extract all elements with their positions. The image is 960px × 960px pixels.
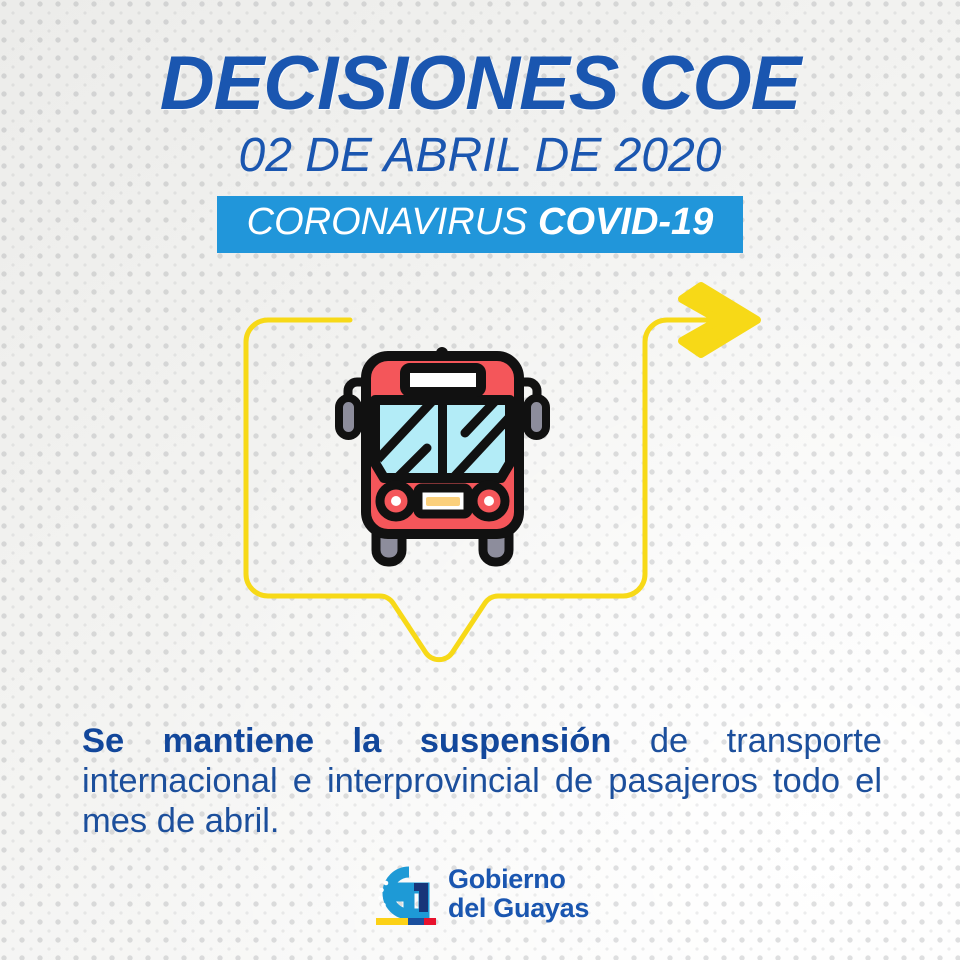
logo-line-1: Gobierno [448,865,589,894]
banner-label-coronavirus: CORONAVIRUS [247,201,528,243]
logo-navy-mark [414,883,428,912]
body-text: Se mantiene la suspensión de transporte … [82,721,882,841]
body-text-bold: Se mantiene la suspensión [82,722,611,760]
logo-flag-bar [376,918,436,925]
licence-plate-strip [426,497,460,506]
mirror-pad-right [527,398,546,436]
poster-canvas: DECISIONES COE 02 DE ABRIL DE 2020 CORON… [0,0,960,960]
logo-g-letter [388,872,424,914]
headlight-left-glint [391,496,401,506]
bus-icon [335,338,550,568]
flag-red [424,918,436,925]
header: DECISIONES COE 02 DE ABRIL DE 2020 CORON… [0,0,960,253]
logo: Gobierno del Guayas [372,862,589,928]
flag-blue [408,918,424,925]
banner-label-covid19: COVID-19 [538,201,713,243]
logo-text: Gobierno del Guayas [448,862,589,923]
bus-windshield [365,393,531,488]
gobierno-del-guayas-logo-icon [372,862,438,928]
flag-yellow [376,918,408,925]
banner-text: CORONAVIRUS COVID-19 [247,201,714,243]
logo-line-2: del Guayas [448,894,589,923]
mirror-pad-left [339,398,358,436]
headlight-right-glint [484,496,494,506]
covid-banner: CORONAVIRUS COVID-19 [217,196,744,253]
bus-icon-group [339,347,546,562]
page-title: DECISIONES COE [0,0,960,120]
destination-sign [405,368,481,392]
banner-wrapper: CORONAVIRUS COVID-19 [0,196,960,253]
header-date: 02 DE ABRIL DE 2020 [0,120,960,180]
